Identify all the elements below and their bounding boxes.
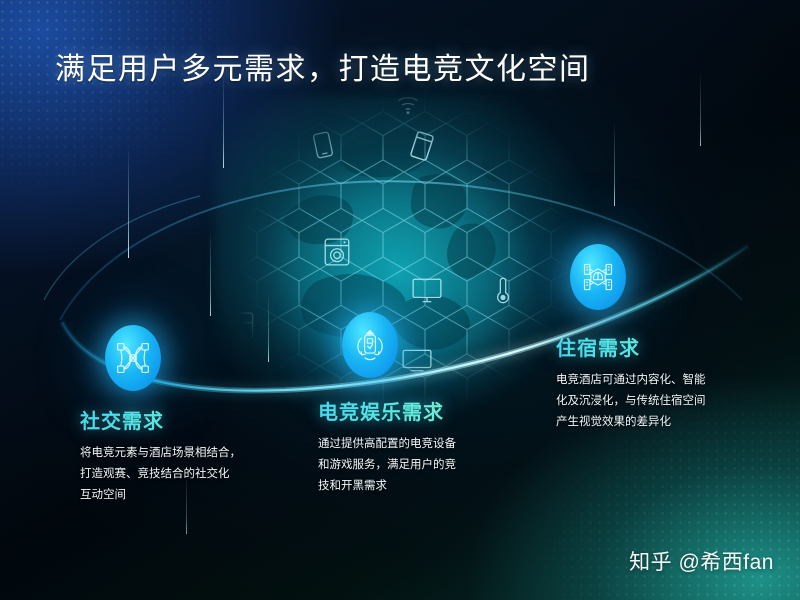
desc-line: 技和开黑需求 [318, 476, 518, 497]
node-social[interactable] [105, 325, 161, 391]
item-heading: 电竞娱乐需求 [318, 396, 518, 425]
social-network-icon [115, 340, 151, 376]
hexagonal-iot-globe [205, 85, 605, 405]
light-streak [700, 72, 701, 146]
watermark: 知乎 @希西fan [629, 546, 774, 576]
item-accommodation: 住宿需求 电竞酒店可通过内容化、智能 化及沉浸化，与传统住宿空间 产生视觉效果的… [556, 332, 766, 433]
item-heading: 住宿需求 [556, 332, 766, 361]
node-accommodation[interactable] [570, 244, 626, 310]
slide-canvas: 满足用户多元需求，打造电竞文化空间 [0, 0, 800, 600]
monitor-icon [411, 277, 443, 305]
desc-line: 打造观赛、竞技结合的社交化 [80, 464, 295, 485]
desc-line: 电竞酒店可通过内容化、智能 [556, 370, 766, 391]
thermometer-icon [495, 275, 511, 305]
desc-line: 通过提供高配置的电竞设备 [318, 434, 518, 455]
desc-line: 互动空间 [80, 485, 295, 506]
smart-hotel-room-icon [580, 259, 616, 295]
item-heading: 社交需求 [80, 405, 295, 434]
light-streak [614, 120, 615, 206]
gamepad-refresh-icon [353, 327, 387, 363]
desc-line: 产生视觉效果的差异化 [556, 412, 766, 433]
item-description: 通过提供高配置的电竞设备 和游戏服务，满足用户的竞 技和开黑需求 [318, 434, 518, 497]
desc-line: 将电竞元素与酒店场景相结合， [80, 443, 295, 464]
desc-line: 化及沉浸化，与传统住宿空间 [556, 391, 766, 412]
tv-icon [401, 347, 433, 373]
refrigerator-icon [233, 311, 255, 341]
item-description: 将电竞元素与酒店场景相结合， 打造观赛、竞技结合的社交化 互动空间 [80, 443, 295, 506]
globe-core [225, 85, 587, 425]
light-streak [128, 146, 129, 258]
item-description: 电竞酒店可通过内容化、智能 化及沉浸化，与传统住宿空间 产生视觉效果的差异化 [556, 370, 766, 433]
page-title: 满足用户多元需求，打造电竞文化空间 [55, 44, 591, 88]
item-social: 社交需求 将电竞元素与酒店场景相结合， 打造观赛、竞技结合的社交化 互动空间 [80, 405, 295, 506]
desc-line: 和游戏服务，满足用户的竞 [318, 455, 518, 476]
wifi-icon [395, 91, 421, 117]
globe-hex-mesh [225, 85, 587, 425]
node-esports-entertainment[interactable] [342, 312, 398, 378]
item-esports-entertainment: 电竞娱乐需求 通过提供高配置的电竞设备 和游戏服务，满足用户的竞 技和开黑需求 [318, 396, 518, 497]
washing-machine-icon [323, 237, 351, 267]
